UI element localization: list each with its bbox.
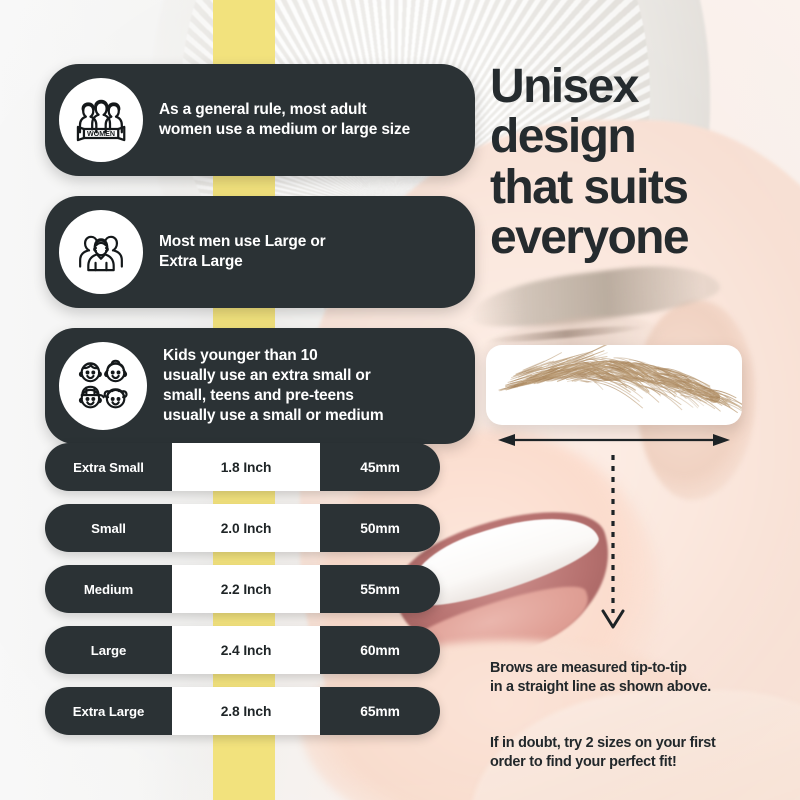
size-name-cell: Small [45, 504, 172, 552]
brow-product-card [486, 345, 742, 425]
infographic-canvas: WOMEN As a general rule, most adult wome… [0, 0, 800, 800]
table-row[interactable]: Extra Large 2.8 Inch 65mm [45, 687, 440, 735]
size-mm-cell: 65mm [320, 687, 440, 735]
size-mm-cell: 55mm [320, 565, 440, 613]
size-name-cell: Extra Large [45, 687, 172, 735]
table-row[interactable]: Extra Small 1.8 Inch 45mm [45, 443, 440, 491]
table-row[interactable]: Small 2.0 Inch 50mm [45, 504, 440, 552]
size-inch-cell: 2.8 Inch [172, 687, 320, 735]
size-name-cell: Large [45, 626, 172, 674]
women-group-icon: WOMEN [59, 78, 143, 162]
info-card-kids[interactable]: Kids younger than 10 usually use an extr… [45, 328, 475, 444]
page-title: Unisex design that suits everyone [490, 62, 790, 264]
info-card-kids-text: Kids younger than 10 usually use an extr… [163, 346, 383, 427]
size-name-cell: Extra Small [45, 443, 172, 491]
size-inch-cell: 2.0 Inch [172, 504, 320, 552]
size-inch-cell: 2.4 Inch [172, 626, 320, 674]
men-group-icon [59, 210, 143, 294]
women-banner-label: WOMEN [87, 130, 115, 138]
info-card-women[interactable]: WOMEN As a general rule, most adult wome… [45, 64, 475, 176]
size-inch-cell: 1.8 Inch [172, 443, 320, 491]
size-inch-cell: 2.2 Inch [172, 565, 320, 613]
info-card-men-text: Most men use Large or Extra Large [159, 232, 326, 273]
table-row[interactable]: Medium 2.2 Inch 55mm [45, 565, 440, 613]
size-mm-cell: 45mm [320, 443, 440, 491]
dashed-down-arrow-icon [592, 455, 634, 630]
info-card-women-text: As a general rule, most adult women use … [159, 100, 410, 141]
kids-group-icon [59, 342, 147, 430]
size-name-cell: Medium [45, 565, 172, 613]
info-card-list: WOMEN As a general rule, most adult wome… [45, 64, 475, 464]
size-mm-cell: 60mm [320, 626, 440, 674]
size-chart-table: Extra Small 1.8 Inch 45mm Small 2.0 Inch… [45, 443, 440, 748]
bottom-note: Brows are measured tip-to-tip in a strai… [490, 640, 790, 791]
bottom-note-paragraph-2: If in doubt, try 2 sizes on your first o… [490, 734, 790, 772]
measurement-arrow [498, 432, 730, 448]
size-mm-cell: 50mm [320, 504, 440, 552]
bottom-note-paragraph-1: Brows are measured tip-to-tip in a strai… [490, 659, 790, 697]
table-row[interactable]: Large 2.4 Inch 60mm [45, 626, 440, 674]
info-card-men[interactable]: Most men use Large or Extra Large [45, 196, 475, 308]
eyebrow-hair-image [486, 345, 742, 425]
